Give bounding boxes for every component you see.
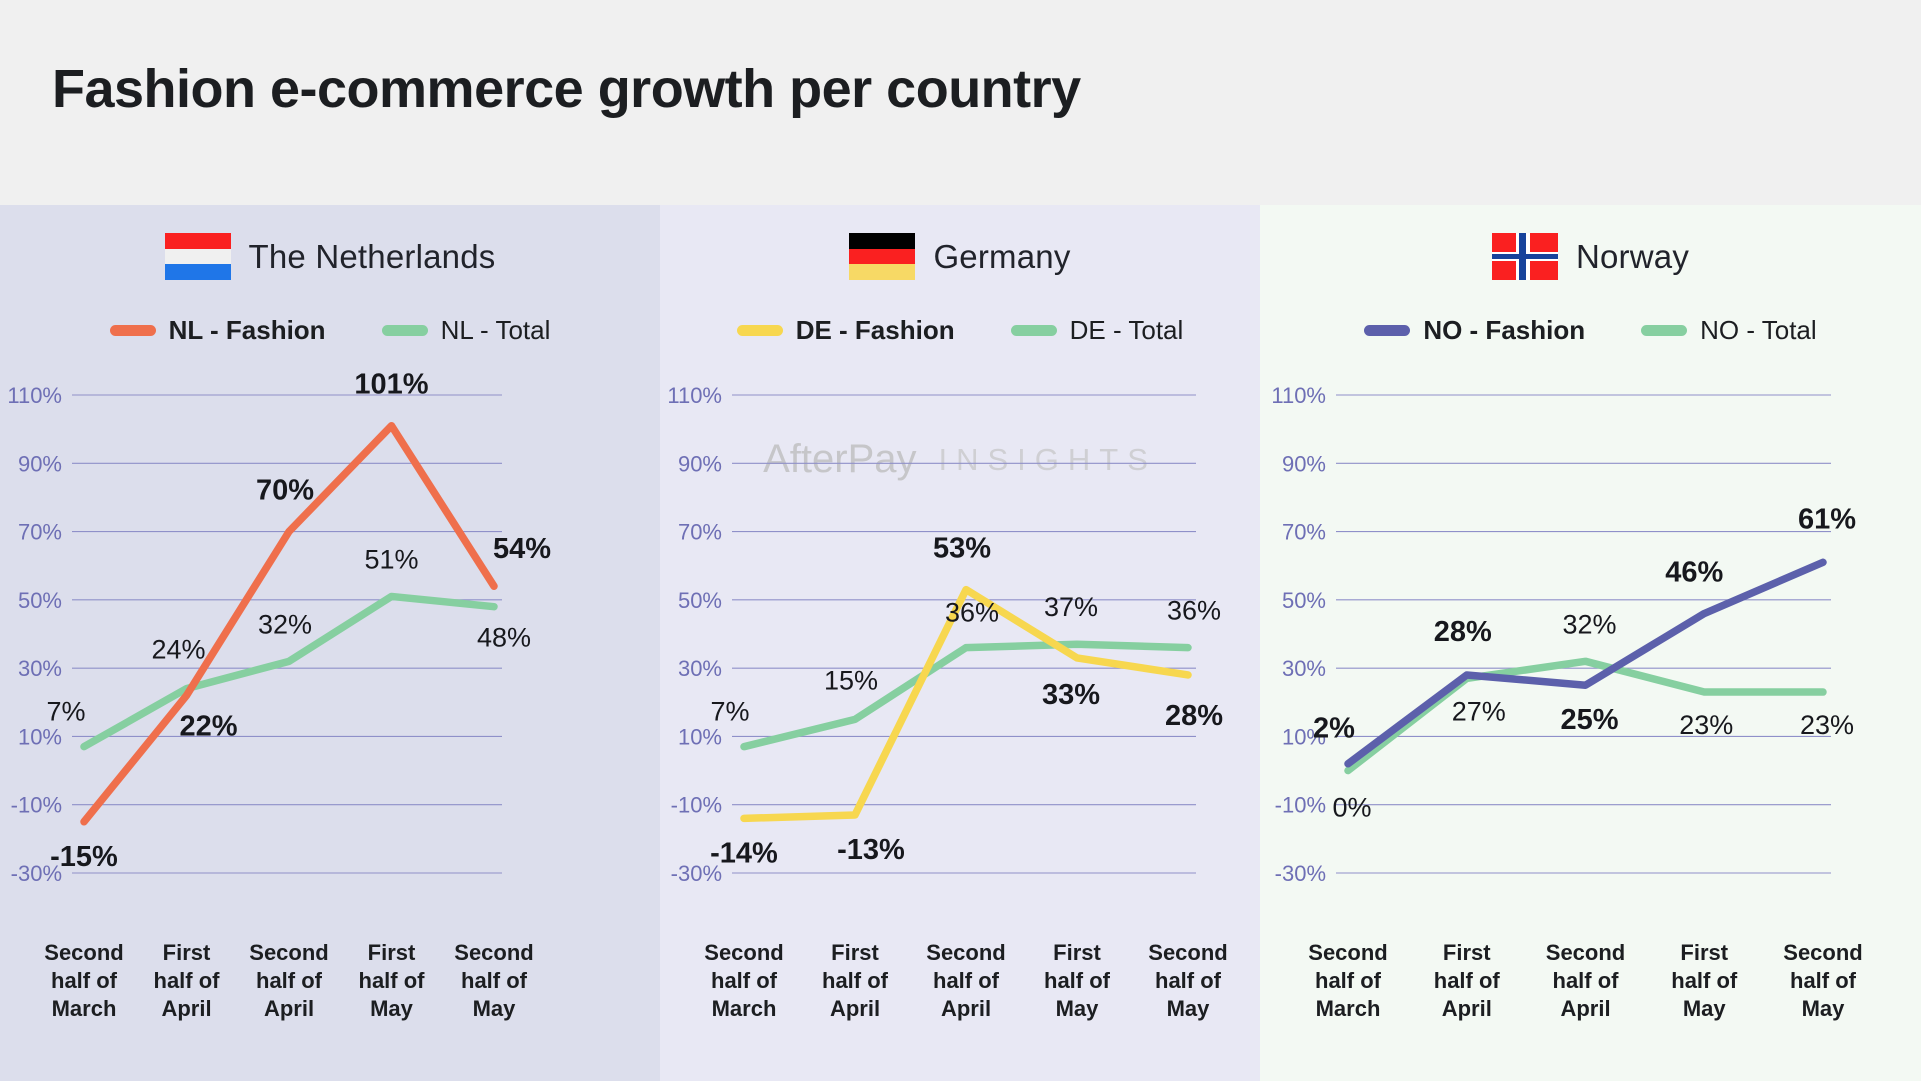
legend-item-nl-fashion[interactable]: NL - Fashion — [110, 315, 326, 346]
plot-germany: 110%90%70%50%30%10%-10%-30%-14%-13%53%33… — [660, 373, 1260, 933]
data-point-label: 0% — [1332, 793, 1371, 823]
xaxis-germany: Secondhalf ofMarchFirsthalf ofAprilSecon… — [660, 939, 1260, 1049]
y-axis-tick-label: 110% — [7, 383, 62, 408]
x-axis-tick-label: Secondhalf ofMarch — [684, 939, 804, 1023]
y-axis-tick-label: 110% — [667, 383, 722, 408]
data-point-label: 36% — [945, 598, 999, 628]
y-axis-tick-label: 70% — [678, 520, 722, 545]
xaxis-norway: Secondhalf ofMarchFirsthalf ofAprilSecon… — [1260, 939, 1921, 1049]
x-axis-tick-label: Firsthalf ofApril — [1407, 939, 1527, 1023]
data-point-label: 22% — [179, 710, 237, 742]
legend-swatch-icon — [1364, 325, 1410, 336]
data-point-label: 23% — [1679, 710, 1733, 740]
y-axis-tick-label: 30% — [18, 656, 62, 681]
y-axis-tick-label: 50% — [678, 588, 722, 613]
country-name-norway: Norway — [1576, 238, 1689, 276]
plot-norway: 110%90%70%50%30%10%-10%-30%2%28%25%46%61… — [1260, 373, 1921, 933]
panel-norway: Norway NO - Fashion NO - Total 110%90%70… — [1260, 205, 1921, 1081]
data-point-label: 36% — [1167, 596, 1221, 626]
x-axis-tick-label: Firsthalf ofApril — [795, 939, 915, 1023]
data-point-label: 25% — [1560, 704, 1618, 736]
plot-svg-netherlands: 110%90%70%50%30%10%-10%-30%-15%22%70%101… — [0, 373, 660, 933]
data-point-label: 27% — [1452, 696, 1506, 726]
y-axis-tick-label: 10% — [678, 724, 722, 749]
data-point-label: 28% — [1434, 616, 1492, 648]
data-point-label: 2% — [1313, 713, 1355, 745]
x-axis-tick-label: Firsthalf ofMay — [1644, 939, 1764, 1023]
data-point-label: 37% — [1044, 592, 1098, 622]
data-point-label: -14% — [710, 837, 778, 869]
panel-header-netherlands: The Netherlands — [0, 233, 660, 280]
data-point-label: 7% — [710, 697, 749, 727]
data-point-label: 32% — [1562, 609, 1616, 639]
country-name-germany: Germany — [933, 238, 1070, 276]
data-point-label: 70% — [256, 475, 314, 507]
legend-label: DE - Total — [1070, 315, 1184, 346]
legend-item-de-fashion[interactable]: DE - Fashion — [737, 315, 955, 346]
legend-swatch-icon — [1011, 325, 1057, 336]
legend-item-de-total[interactable]: DE - Total — [1011, 315, 1184, 346]
panel-header-germany: Germany — [660, 233, 1260, 280]
plot-netherlands: 110%90%70%50%30%10%-10%-30%-15%22%70%101… — [0, 373, 660, 933]
panel-header-norway: Norway — [1260, 233, 1921, 280]
x-axis-tick-label: Secondhalf ofMay — [434, 939, 554, 1023]
data-point-label: 15% — [824, 665, 878, 695]
y-axis-tick-label: -10% — [1275, 793, 1326, 818]
legend-label: NL - Fashion — [169, 315, 326, 346]
data-point-label: 33% — [1042, 679, 1100, 711]
legend-label: NO - Total — [1700, 315, 1817, 346]
y-axis-tick-label: 50% — [1282, 588, 1326, 613]
legend-swatch-icon — [382, 325, 428, 336]
legend-swatch-icon — [1641, 325, 1687, 336]
x-axis-tick-label: Secondhalf ofApril — [906, 939, 1026, 1023]
data-line-de-total — [744, 644, 1188, 746]
data-point-label: 51% — [364, 544, 418, 574]
data-point-label: 48% — [477, 623, 531, 653]
flag-germany-icon — [849, 233, 915, 280]
page-header: Fashion e-commerce growth per country — [0, 0, 1921, 205]
legend-norway: NO - Fashion NO - Total — [1260, 315, 1921, 346]
data-point-label: 54% — [493, 533, 551, 565]
xaxis-netherlands: Secondhalf ofMarchFirsthalf ofAprilSecon… — [0, 939, 660, 1049]
data-point-label: 28% — [1165, 700, 1223, 732]
legend-netherlands: NL - Fashion NL - Total — [0, 315, 660, 346]
chart-page: Fashion e-commerce growth per country Th… — [0, 0, 1921, 1081]
data-point-label: 24% — [151, 635, 205, 665]
y-axis-tick-label: 90% — [678, 451, 722, 476]
legend-item-no-fashion[interactable]: NO - Fashion — [1364, 315, 1585, 346]
data-point-label: 46% — [1665, 557, 1723, 589]
y-axis-tick-label: 90% — [1282, 451, 1326, 476]
data-point-label: -15% — [50, 841, 118, 873]
legend-germany: DE - Fashion DE - Total — [660, 315, 1260, 346]
y-axis-tick-label: 30% — [1282, 656, 1326, 681]
data-point-label: 101% — [354, 369, 428, 401]
x-axis-tick-label: Secondhalf ofApril — [1526, 939, 1646, 1023]
x-axis-tick-label: Secondhalf ofMay — [1128, 939, 1248, 1023]
legend-item-no-total[interactable]: NO - Total — [1641, 315, 1817, 346]
y-axis-tick-label: 90% — [18, 451, 62, 476]
x-axis-tick-label: Secondhalf ofMay — [1763, 939, 1883, 1023]
plot-svg-norway: 110%90%70%50%30%10%-10%-30%2%28%25%46%61… — [1260, 373, 1921, 933]
page-title: Fashion e-commerce growth per country — [52, 58, 1081, 120]
y-axis-tick-label: -10% — [671, 793, 722, 818]
panel-germany: Germany DE - Fashion DE - Total AfterPay… — [660, 205, 1260, 1081]
data-point-label: -13% — [837, 834, 905, 866]
legend-swatch-icon — [110, 325, 156, 336]
panel-netherlands: The Netherlands NL - Fashion NL - Total … — [0, 205, 660, 1081]
y-axis-tick-label: 30% — [678, 656, 722, 681]
flag-norway-icon — [1492, 233, 1558, 280]
data-point-label: 61% — [1798, 503, 1856, 535]
country-name-netherlands: The Netherlands — [249, 238, 496, 276]
legend-label: DE - Fashion — [796, 315, 955, 346]
x-axis-tick-label: Secondhalf ofMarch — [1288, 939, 1408, 1023]
flag-netherlands-icon — [165, 233, 231, 280]
legend-label: NO - Fashion — [1423, 315, 1585, 346]
y-axis-tick-label: -10% — [11, 793, 62, 818]
x-axis-tick-label: Firsthalf ofMay — [1017, 939, 1137, 1023]
legend-label: NL - Total — [441, 315, 551, 346]
legend-swatch-icon — [737, 325, 783, 336]
data-point-label: 32% — [258, 609, 312, 639]
plot-svg-germany: 110%90%70%50%30%10%-10%-30%-14%-13%53%33… — [660, 373, 1260, 933]
legend-item-nl-total[interactable]: NL - Total — [382, 315, 551, 346]
y-axis-tick-label: 70% — [18, 520, 62, 545]
y-axis-tick-label: 110% — [1271, 383, 1326, 408]
data-point-label: 53% — [933, 533, 991, 565]
y-axis-tick-label: 70% — [1282, 520, 1326, 545]
y-axis-tick-label: -30% — [1275, 861, 1326, 886]
data-point-label: 7% — [46, 697, 85, 727]
data-point-label: 23% — [1800, 710, 1854, 740]
y-axis-tick-label: 10% — [18, 724, 62, 749]
y-axis-tick-label: 50% — [18, 588, 62, 613]
country-panels: The Netherlands NL - Fashion NL - Total … — [0, 205, 1921, 1081]
